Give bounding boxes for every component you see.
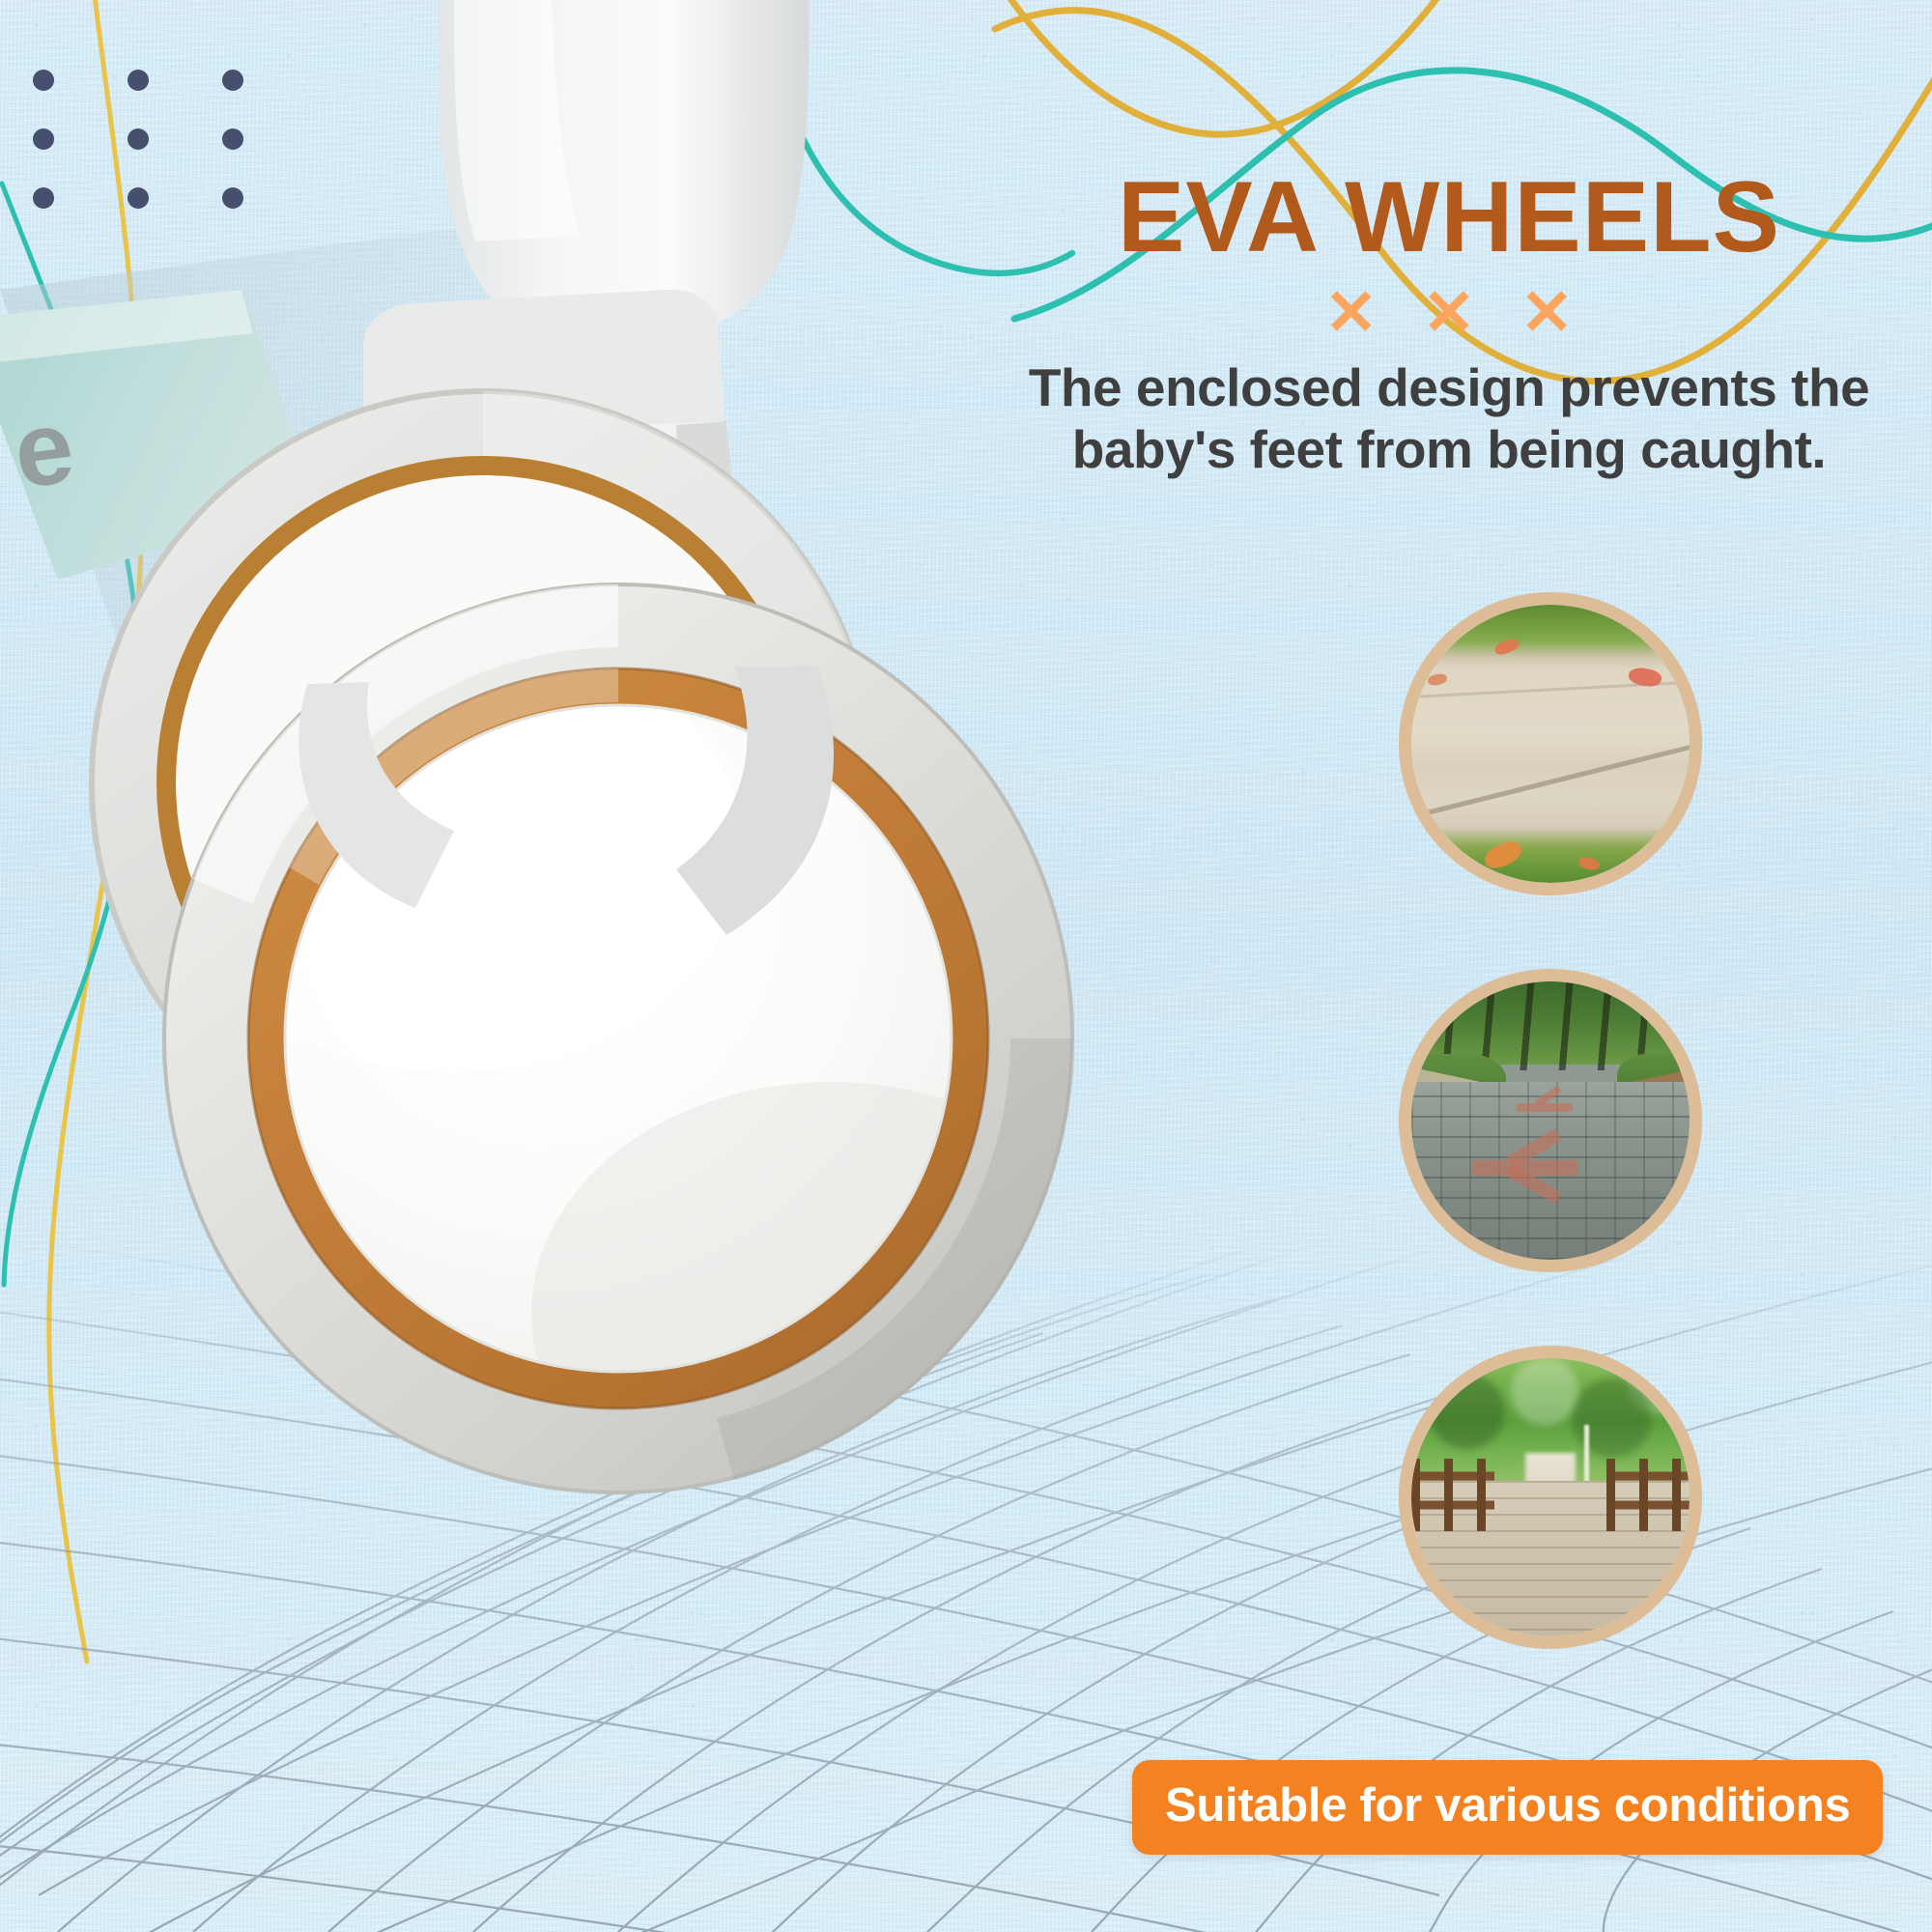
wheel-fork-front-arm — [298, 667, 834, 935]
subtitle: The enclosed design prevents the baby's … — [1024, 357, 1874, 481]
subtitle-line-1: The enclosed design prevents the — [1024, 357, 1874, 419]
thumbnail-brick-paver-path — [1399, 969, 1702, 1272]
scene-sidewalk — [1411, 605, 1690, 883]
bridge-railing-left — [1411, 1459, 1494, 1531]
bridge-railing-right — [1606, 1459, 1690, 1531]
subtitle-line-2: baby's feet from being caught. — [1024, 419, 1874, 481]
conditions-banner-label: Suitable for various conditions — [1165, 1778, 1850, 1833]
thumbnail-image-paver — [1411, 981, 1690, 1260]
scene-paver — [1411, 981, 1690, 1260]
paver-ground — [1411, 1082, 1690, 1260]
x-mark-icon: ✕ — [1422, 280, 1475, 344]
conditions-banner: Suitable for various conditions — [1132, 1760, 1883, 1855]
x-divider: ✕ ✕ ✕ — [1024, 280, 1874, 344]
road-arrow-marking — [1517, 1103, 1573, 1112]
thumbnail-concrete-sidewalk — [1399, 592, 1702, 895]
thumbnail-image-bridge — [1411, 1358, 1690, 1636]
product-wheel-photo: e — [0, 0, 1140, 1739]
page-title: EVA WHEELS — [1024, 166, 1874, 269]
x-mark-icon: ✕ — [1324, 280, 1378, 344]
poster-canvas: e — [0, 0, 1932, 1932]
scene-bridge — [1411, 1358, 1690, 1636]
x-mark-icon: ✕ — [1520, 280, 1574, 344]
headline-block: EVA WHEELS ✕ ✕ ✕ The enclosed design pre… — [1024, 166, 1874, 481]
thumbnail-wooden-boardwalk-bridge — [1399, 1346, 1702, 1649]
thumbnail-image-sidewalk — [1411, 605, 1690, 883]
